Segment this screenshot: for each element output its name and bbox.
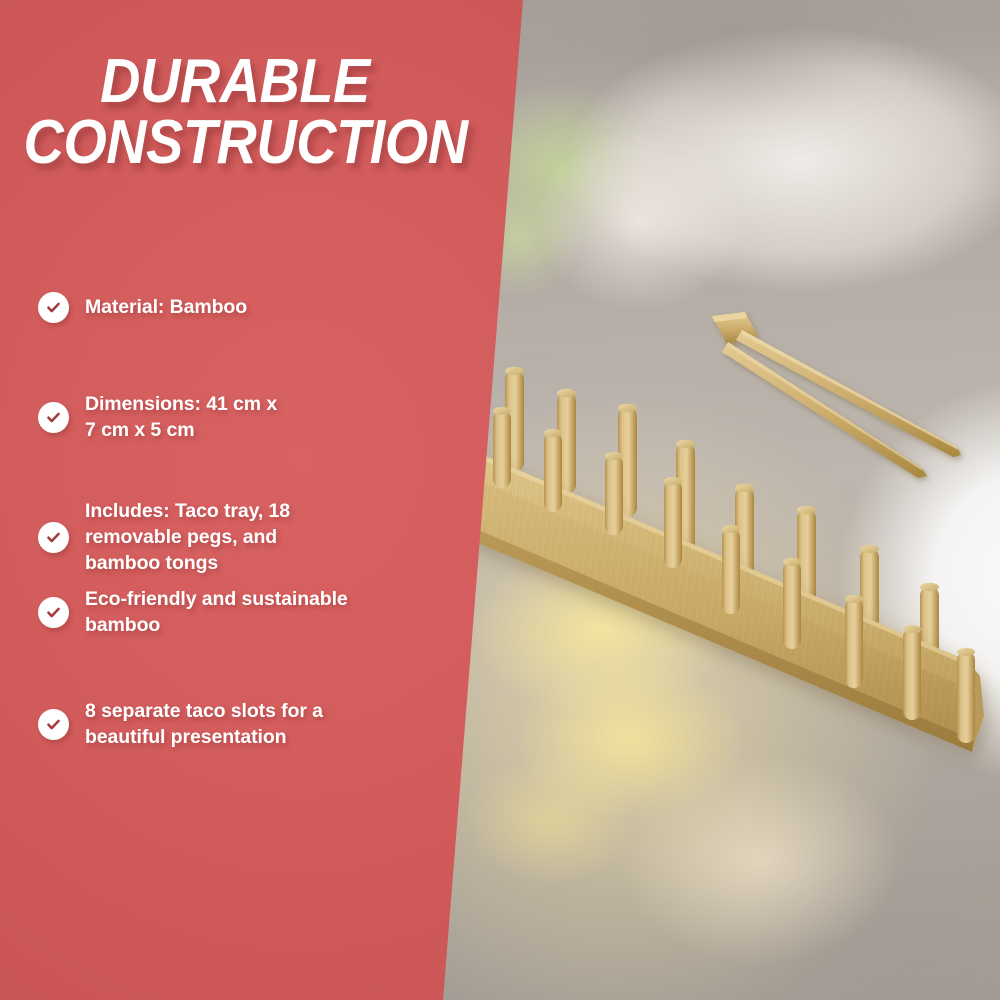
- feature-text: 8 separate taco slots for a beautiful pr…: [85, 699, 323, 751]
- feature-item-dimensions: Dimensions: 41 cm x 7 cm x 5 cm: [38, 392, 438, 444]
- feature-item-taco-slots: 8 separate taco slots for a beautiful pr…: [38, 699, 438, 751]
- feature-item-includes: Includes: Taco tray, 18 removable pegs, …: [38, 499, 438, 577]
- feature-item-material: Material: Bamboo: [38, 292, 438, 323]
- feature-text: Material: Bamboo: [85, 295, 247, 321]
- check-circle-icon: [38, 522, 69, 553]
- feature-text: Includes: Taco tray, 18 removable pegs, …: [85, 499, 290, 577]
- product-feature-banner: DURABLE CONSTRUCTION Material: Bamboo Di…: [0, 0, 1000, 1000]
- feature-text: Eco-friendly and sustainable bamboo: [85, 587, 348, 639]
- check-circle-icon: [38, 292, 69, 323]
- headline-line-1: DURABLE: [100, 47, 370, 116]
- check-circle-icon: [38, 709, 69, 740]
- feature-text: Dimensions: 41 cm x 7 cm x 5 cm: [85, 392, 277, 444]
- feature-item-eco-friendly: Eco-friendly and sustainable bamboo: [38, 587, 438, 639]
- headline-line-2: CONSTRUCTION: [24, 113, 447, 174]
- check-circle-icon: [38, 402, 69, 433]
- page-title: DURABLE CONSTRUCTION: [24, 52, 447, 174]
- check-circle-icon: [38, 597, 69, 628]
